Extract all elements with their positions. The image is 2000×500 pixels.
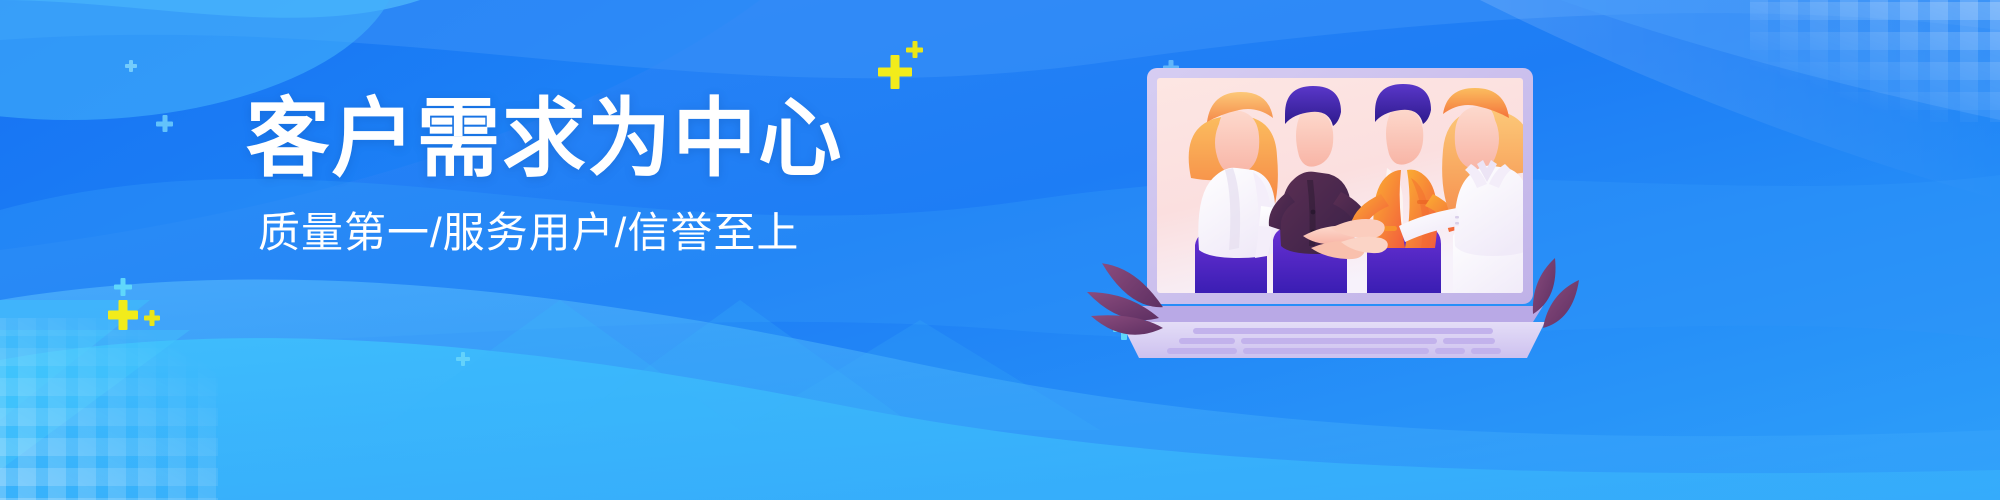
promo-banner: 客户需求为中心 质量第一/服务用户/信誉至上 <box>0 0 2000 500</box>
laptop-illustration <box>1135 60 1545 360</box>
laptop-hinge <box>1137 306 1543 322</box>
banner-subline: 质量第一/服务用户/信誉至上 <box>258 210 986 256</box>
laptop-keys <box>1167 328 1501 354</box>
banner-headline: 客户需求为中心 <box>246 96 964 184</box>
headline-block: 客户需求为中心 质量第一/服务用户/信誉至上 <box>246 96 986 256</box>
